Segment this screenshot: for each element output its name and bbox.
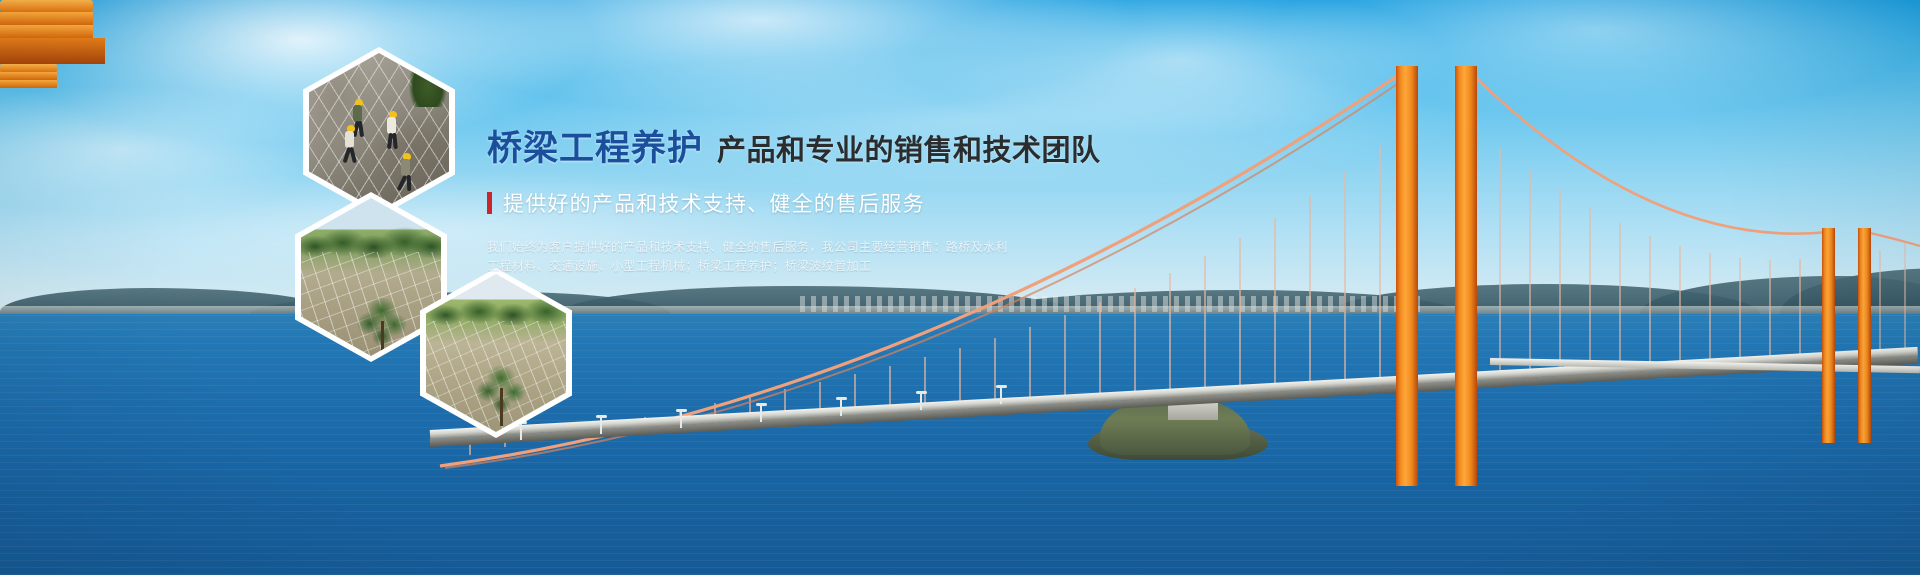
photo-forest	[426, 290, 566, 325]
suspension-bridge	[0, 0, 1920, 575]
bridge-tower-leg	[1455, 66, 1477, 486]
photo-slope-vegetation	[426, 274, 566, 432]
bridge-tower-leg	[1858, 228, 1871, 443]
street-lamp	[760, 406, 762, 422]
subtitle-row: 提供好的产品和技术支持、健全的售后服务	[487, 188, 1247, 218]
photo-rockface-mesh	[309, 53, 449, 211]
street-lamp	[1000, 388, 1002, 404]
headline-secondary: 产品和专业的销售和技术团队	[717, 127, 1101, 169]
bridge-tower-leg	[1396, 66, 1418, 486]
bridge-cables-and-hangers	[0, 0, 1920, 575]
accent-bar	[487, 192, 492, 214]
street-lamp	[840, 400, 842, 416]
photo-bush	[354, 298, 410, 356]
photo-bush	[474, 366, 528, 426]
description-paragraph: 我们始终为客户提供好的产品和技术支持、健全的售后服务，我公司主要经营销售：路桥及…	[487, 238, 1247, 276]
headline-primary: 桥梁工程养护	[487, 120, 703, 171]
headline: 桥梁工程养护 产品和专业的销售和技术团队	[487, 120, 1247, 171]
subtitle-text: 提供好的产品和技术支持、健全的售后服务	[503, 188, 925, 218]
bridge-tower-leg	[1822, 228, 1835, 443]
hero-banner: 桥梁工程养护 产品和专业的销售和技术团队 提供好的产品和技术支持、健全的售后服务…	[0, 0, 1920, 575]
street-lamp	[680, 412, 682, 428]
street-lamp	[920, 394, 922, 410]
description-line-1: 我们始终为客户提供好的产品和技术支持、健全的售后服务，我公司主要经营销售：路桥及…	[487, 238, 1247, 257]
description-line-2: 工程材料、交通设施、小型工程机械；桥梁工程养护；桥梁波纹管加工	[487, 257, 1247, 276]
hexagon-photo-slope-vegetation	[420, 268, 572, 438]
photo-tree	[409, 53, 447, 107]
banner-text-block: 桥梁工程养护 产品和专业的销售和技术团队 提供好的产品和技术支持、健全的售后服务…	[487, 120, 1247, 276]
street-lamp	[600, 418, 602, 434]
